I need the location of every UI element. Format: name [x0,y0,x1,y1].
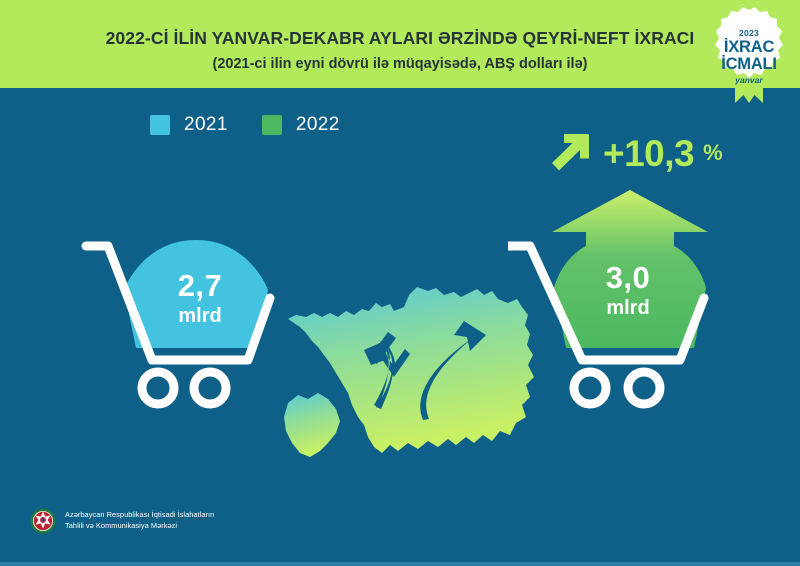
legend-item-2021: 2021 [150,114,228,136]
badge-month: yanvar [705,75,793,85]
growth-value: +10,3 [603,135,694,172]
footer-line-2: Tahlili və Kommunikasiya Mərkəzi [65,521,214,532]
footer-rule [0,562,800,566]
page-subtitle: (2021-ci ilin eyni dövrü ilə müqayisədə,… [0,56,800,72]
azerbaijan-emblem-icon [30,508,56,534]
ixrac-icmali-badge: 2023 İXRAC İCMALI yanvar [705,2,793,106]
badge-year: 2023 [705,28,793,38]
infographic-canvas: 2022-Cİ İLİN YANVAR-DEKABR AYLARI ƏRZİND… [0,0,800,566]
legend-label-2021: 2021 [184,114,228,136]
footer-line-1: Azərbaycan Respublikası İqtisadi İslahat… [65,510,214,521]
footer-organization: Azərbaycan Respublikası İqtisadi İslahat… [65,510,214,531]
arrow-up-right-icon [548,131,594,175]
footer: Azərbaycan Respublikası İqtisadi İslahat… [30,508,214,534]
legend-swatch-2022 [262,115,282,135]
growth-percent-symbol: % [703,140,723,166]
cart-2022-value: 3,0 [508,262,748,293]
legend-label-2022: 2022 [296,114,340,136]
legend: 2021 2022 [150,114,340,136]
cart-2022-unit: mlrd [508,298,748,318]
growth-indicator: +10,3 % [548,131,723,175]
legend-item-2022: 2022 [262,114,340,136]
page-title: 2022-Cİ İLİN YANVAR-DEKABR AYLARI ƏRZİND… [0,28,800,49]
badge-line-2: İCMALI [705,55,793,74]
legend-swatch-2021 [150,115,170,135]
cart-2021-unit: mlrd [80,306,320,326]
cart-2021-value: 2,7 [80,270,320,301]
cart-2022: 3,0 mlrd [508,190,748,418]
cart-2021: 2,7 mlrd [80,228,320,418]
